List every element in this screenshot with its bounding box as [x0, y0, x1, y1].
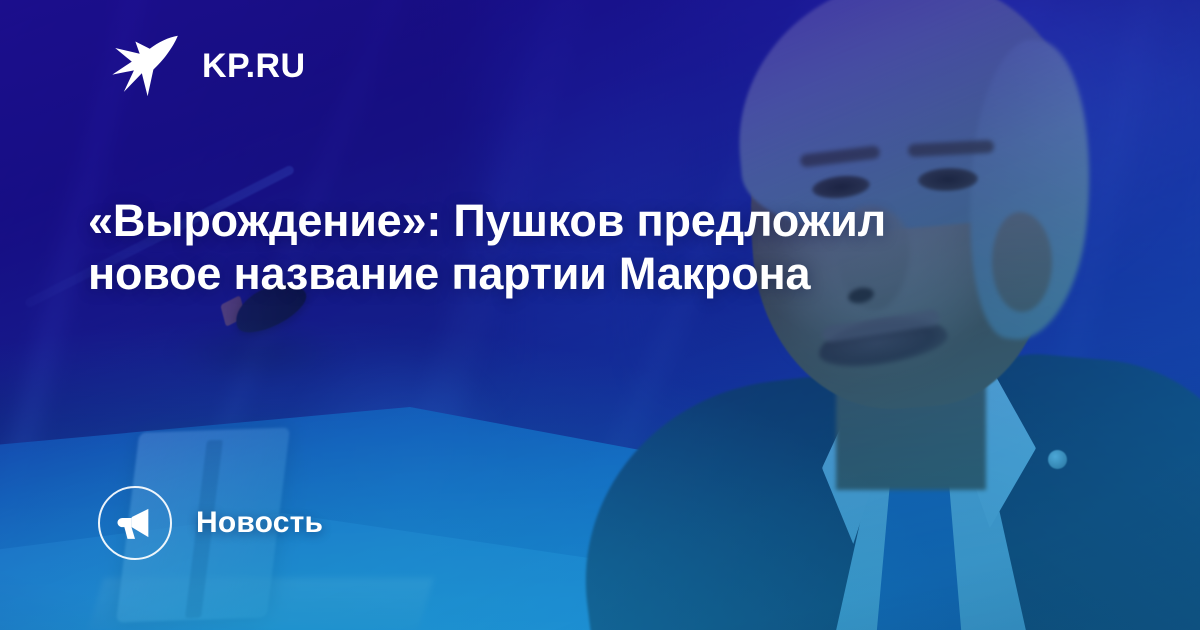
news-share-card: KP.RU «Вырождение»: Пушков предложил нов…: [0, 0, 1200, 630]
page-title: «Вырождение»: Пушков предложил новое наз…: [88, 194, 918, 300]
overlay-content: KP.RU «Вырождение»: Пушков предложил нов…: [0, 0, 1200, 630]
status-badge[interactable]: Новость: [98, 486, 323, 560]
badge-icon-circle: [98, 486, 172, 560]
brand-name: KP.RU: [202, 49, 305, 83]
megaphone-icon: [115, 503, 155, 543]
badge-label: Новость: [196, 506, 323, 540]
swallow-bird-icon: [108, 30, 180, 102]
brand-logo[interactable]: KP.RU: [108, 30, 305, 102]
